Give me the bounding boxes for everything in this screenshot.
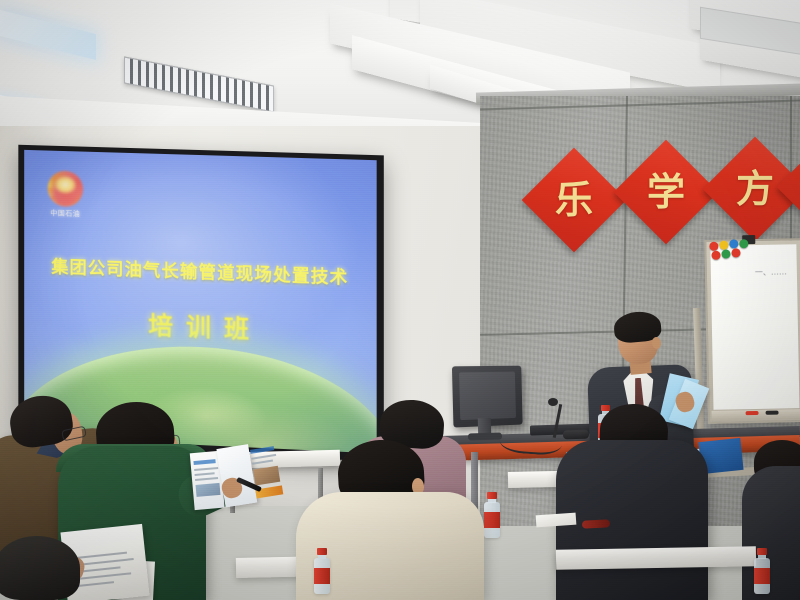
bottle-label (484, 512, 500, 528)
magnet-icon (731, 248, 740, 257)
magnet-icon (719, 240, 728, 249)
flip-chart-whiteboard: 一、…… (704, 238, 800, 424)
brochure-photo (196, 483, 221, 497)
attendee-front-left-head (0, 536, 80, 600)
wall-banner-diamond: 学 (614, 140, 719, 245)
magnet-icon (729, 239, 738, 248)
attendee-dark-suit-torso (556, 440, 708, 600)
bottle-label (314, 568, 330, 584)
water-bottle (314, 548, 330, 594)
magnet-icon (739, 239, 748, 248)
bottle-cap (601, 405, 610, 411)
wall-banner-diamond: 乐 (522, 148, 627, 253)
brochure-header-band (193, 459, 215, 465)
screen-vignette (24, 150, 376, 454)
bottle-cap (487, 492, 497, 499)
desk-red-object (582, 519, 610, 528)
whiteboard-marker-tray (712, 409, 800, 420)
water-bottle (484, 492, 500, 538)
magnet-icon (721, 249, 730, 258)
whiteboard-surface: 一、…… (710, 244, 799, 410)
attendee-right-edge-torso (742, 466, 800, 600)
red-marker-icon (746, 411, 759, 415)
water-bottle (754, 548, 770, 594)
banner-character: 乐 (537, 163, 611, 237)
monitor-stand-base (468, 433, 502, 441)
black-marker-icon (766, 411, 779, 415)
banner-character: 守 (792, 150, 800, 224)
projection-screen: 中国石油 集团公司油气长输管道现场处置技术 培训班 (24, 150, 376, 454)
magnet-icon (711, 251, 720, 260)
brochure-text-line (195, 472, 215, 476)
banner-character: 学 (629, 155, 703, 229)
open-brochure (189, 444, 258, 511)
whiteboard-magnets (709, 239, 755, 260)
microphone-base (563, 430, 589, 440)
magnet-icon (709, 242, 718, 251)
table-leg (471, 452, 478, 510)
whiteboard-writing: 一、…… (755, 266, 800, 278)
bottle-label (754, 568, 770, 584)
bottle-cap (317, 548, 327, 555)
monitor-rear-panel (459, 372, 516, 420)
bottle-cap (757, 548, 767, 555)
brochure-text-line (195, 477, 218, 481)
conference-room-photo: 乐 学 方 守 一、…… (0, 0, 800, 600)
document-text-line (74, 581, 114, 587)
microphone-icon (548, 398, 558, 406)
brochure-text-line (194, 467, 218, 471)
front-row-desk (556, 546, 756, 569)
